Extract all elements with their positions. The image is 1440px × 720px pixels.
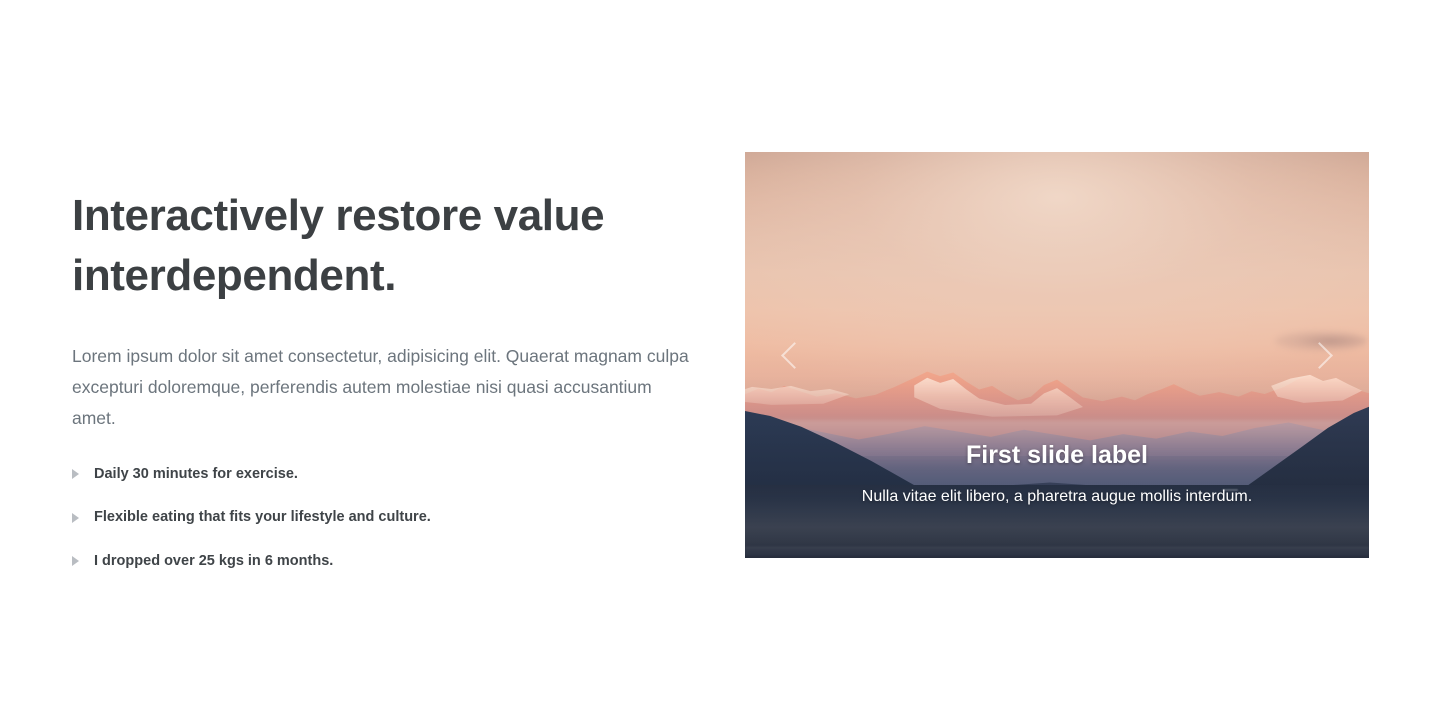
- lead-paragraph: Lorem ipsum dolor sit amet consectetur, …: [72, 341, 692, 434]
- caret-right-icon: [72, 556, 79, 566]
- carousel-next-button[interactable]: [1275, 152, 1369, 558]
- image-carousel[interactable]: First slide label Nulla vitae elit liber…: [745, 152, 1369, 558]
- carousel-prev-button[interactable]: [745, 152, 839, 558]
- feature-item-label: Flexible eating that fits your lifestyle…: [94, 507, 431, 527]
- carousel-indicator-2[interactable]: [1042, 516, 1072, 536]
- list-item: Flexible eating that fits your lifestyle…: [72, 507, 696, 527]
- feature-content-column: Interactively restore value interdepende…: [72, 186, 696, 571]
- carousel-caption: First slide label Nulla vitae elit liber…: [839, 440, 1276, 508]
- carousel-indicator-3[interactable]: [1078, 516, 1108, 536]
- carousel-indicators: [839, 516, 1276, 536]
- carousel-caption-title: First slide label: [839, 440, 1276, 471]
- chevron-right-icon: [1306, 342, 1333, 369]
- feature-list: Daily 30 minutes for exercise. Flexible …: [72, 464, 696, 571]
- list-item: I dropped over 25 kgs in 6 months.: [72, 551, 696, 571]
- chevron-left-icon: [781, 342, 808, 369]
- feature-item-label: Daily 30 minutes for exercise.: [94, 464, 298, 484]
- carousel-caption-text: Nulla vitae elit libero, a pharetra augu…: [839, 485, 1276, 508]
- caret-right-icon: [72, 469, 79, 479]
- list-item: Daily 30 minutes for exercise.: [72, 464, 696, 484]
- carousel-indicator-1[interactable]: [1006, 516, 1036, 536]
- caret-right-icon: [72, 513, 79, 523]
- page-title: Interactively restore value interdepende…: [72, 186, 632, 306]
- feature-item-label: I dropped over 25 kgs in 6 months.: [94, 551, 333, 571]
- page-root: Interactively restore value interdepende…: [0, 0, 1440, 720]
